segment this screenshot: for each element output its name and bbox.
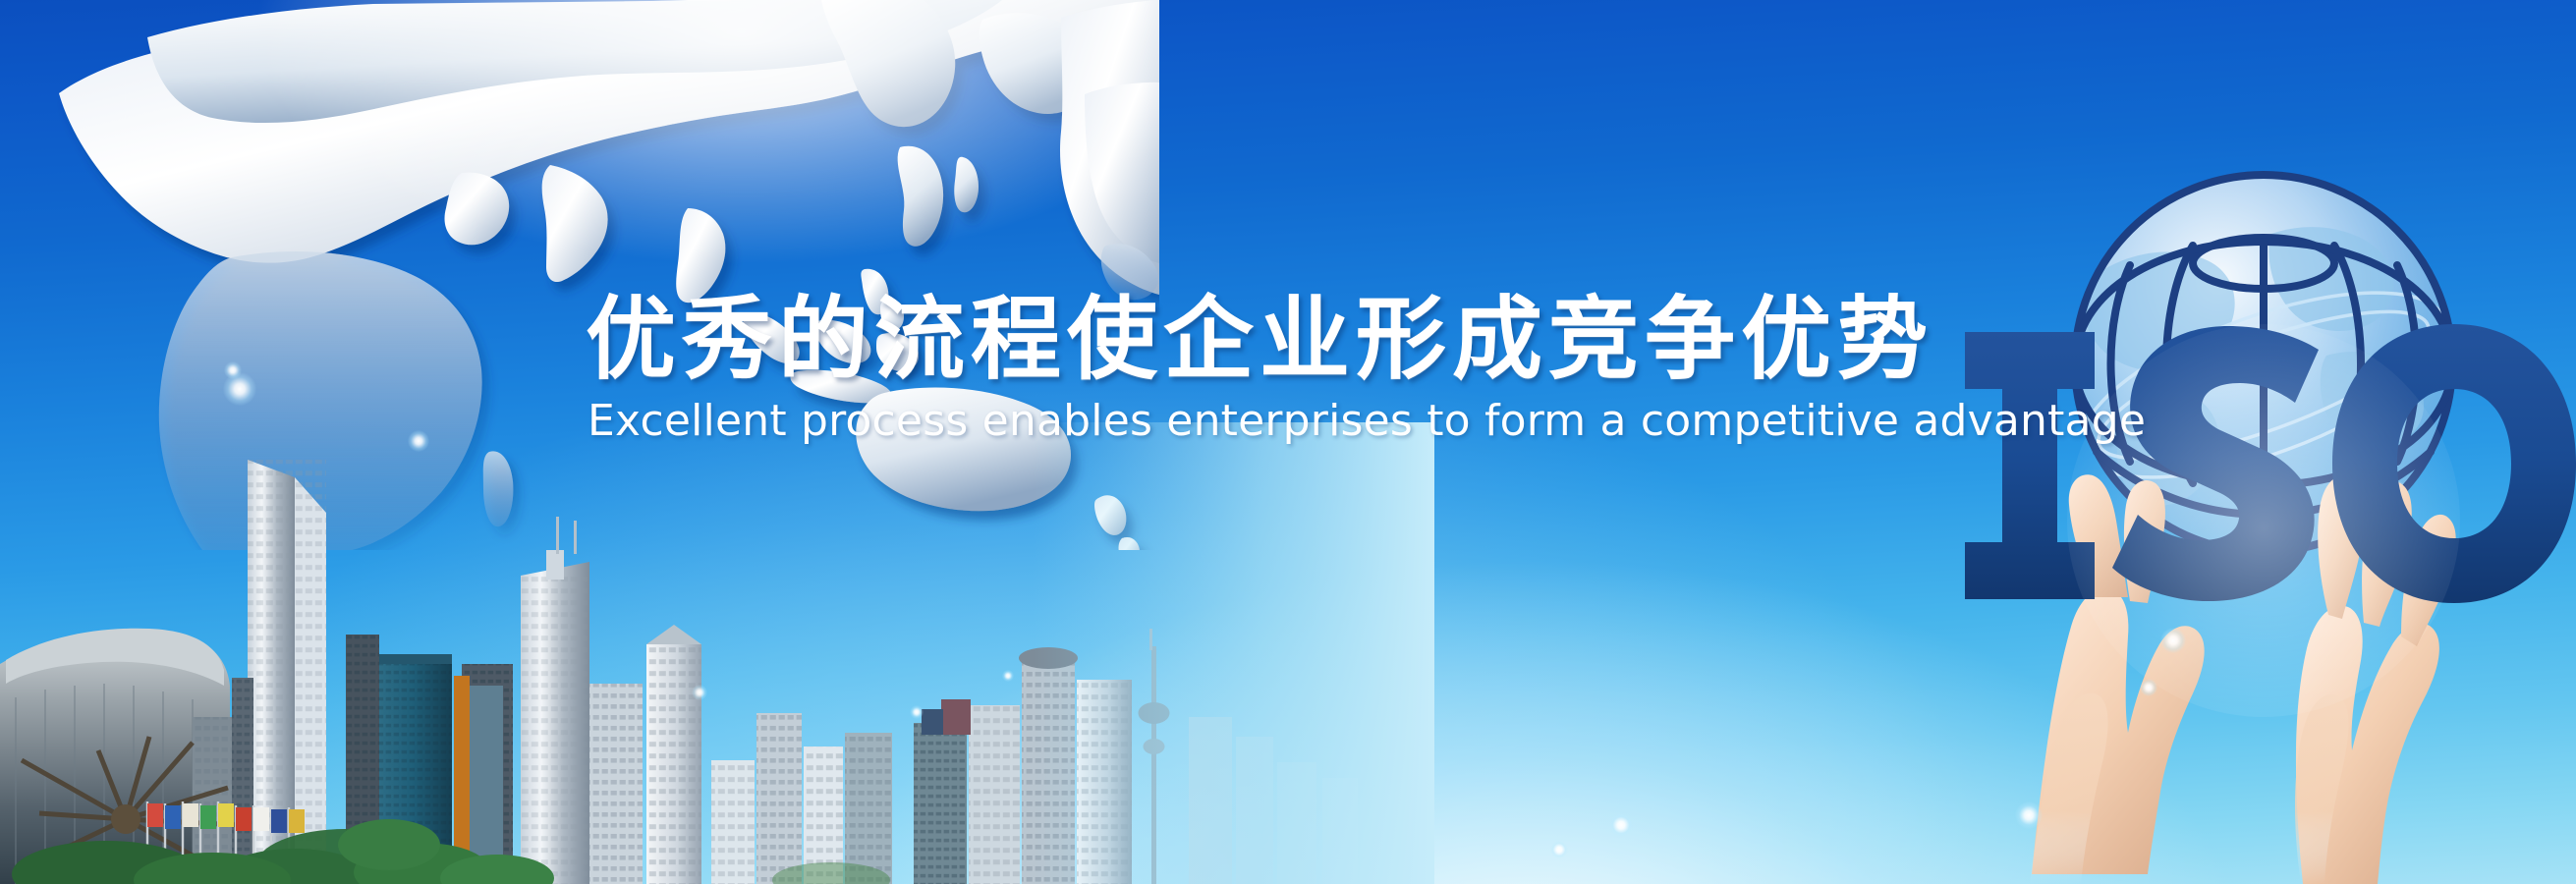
sparkle-dot <box>1550 841 1568 858</box>
sparkle-dot <box>1609 813 1633 837</box>
page-subtitle: Excellent process enables enterprises to… <box>588 399 1961 444</box>
cityscape <box>0 422 1434 884</box>
iso-hero-banner: 优秀的流程使企业形成竞争优势 Excellent process enables… <box>0 0 2576 884</box>
page-title: 优秀的流程使企业形成竞争优势 <box>586 295 1961 385</box>
headline-block: 优秀的流程使企业形成竞争优势 Excellent process enables… <box>586 295 1961 444</box>
iso-emblem <box>1947 98 2576 884</box>
